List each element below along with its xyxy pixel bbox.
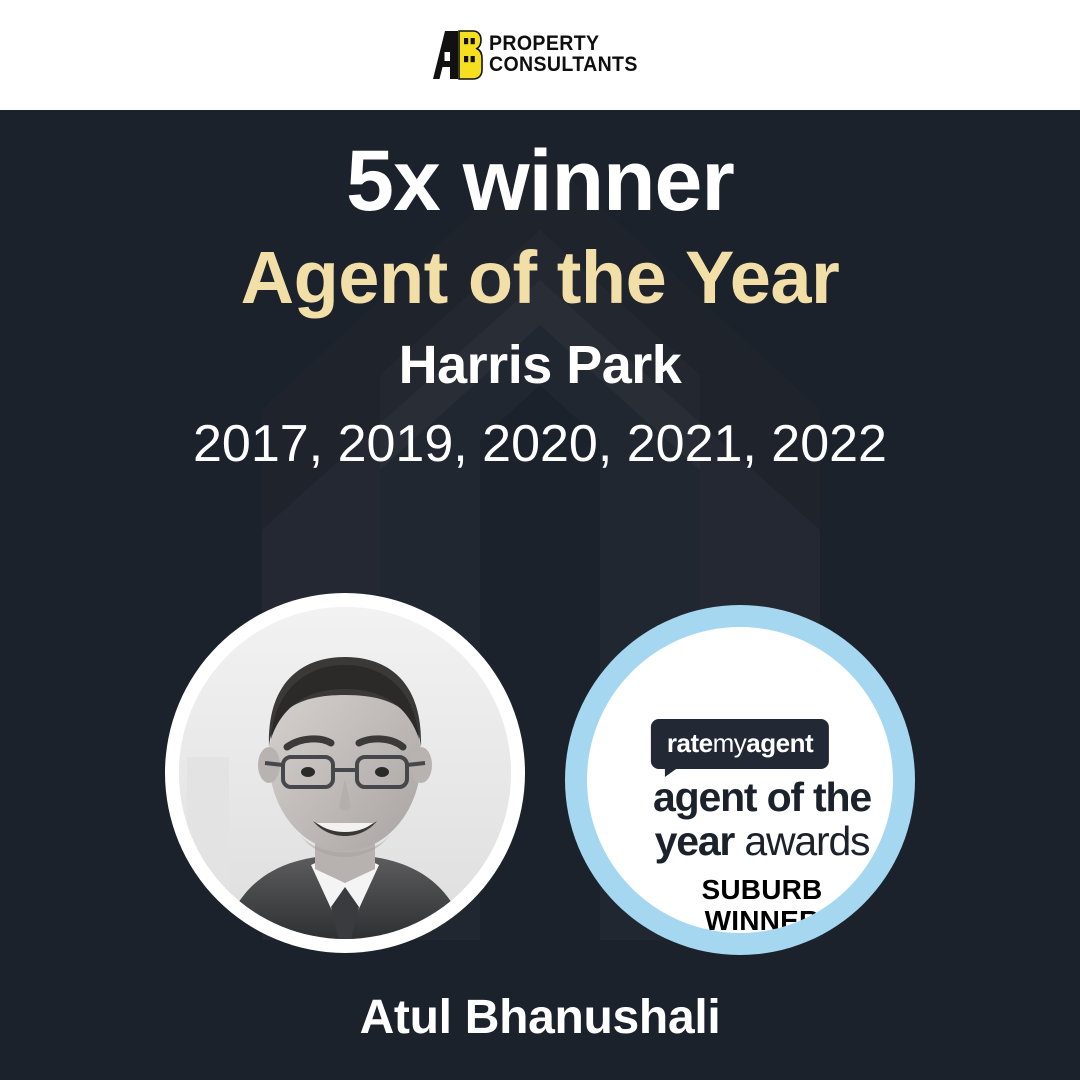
badge-award-name: agent of the year awards (587, 777, 893, 862)
brand-header: PROPERTY CONSULTANTS (0, 0, 1080, 110)
award-announcement-card: PROPERTY CONSULTANTS 5x winner Agent of … (0, 0, 1080, 1080)
poster-body: 5x winner Agent of the Year Harris Park … (0, 110, 1080, 1080)
ratemyagent-award-badge: AGENT OF THE YEAR ratemyagent agent of t… (565, 605, 915, 955)
award-title: Agent of the Year (0, 238, 1080, 318)
ab-monogram-icon (431, 30, 483, 80)
logo-line-1: PROPERTY (489, 34, 638, 55)
rma-rate-text: rate (667, 728, 713, 758)
badge-inner-face: ratemyagent agent of the year awards SUB… (587, 627, 893, 933)
badge-level-line-2: WINNER (587, 905, 893, 933)
logo-line-2: CONSULTANTS (489, 55, 638, 76)
badge-line-2-light: awards (744, 818, 869, 864)
badge-level-line-1: SUBURB (587, 874, 893, 905)
badge-line-2-bold: year (655, 818, 735, 864)
ab-property-consultants-logo: PROPERTY CONSULTANTS (431, 30, 649, 80)
badge-award-level: SUBURB WINNER (587, 874, 893, 933)
headline-win-count: 5x winner (0, 136, 1080, 226)
ratemyagent-logo: ratemyagent (651, 719, 829, 769)
agent-photo-avatar (165, 593, 525, 953)
suburb-name: Harris Park (0, 336, 1080, 395)
logo-wordmark: PROPERTY CONSULTANTS (489, 34, 638, 76)
winning-years: 2017, 2019, 2020, 2021, 2022 (0, 416, 1080, 473)
badge-line-1: agent of the (587, 777, 893, 818)
rma-my-text: my (713, 728, 747, 758)
poster-text-stack: 5x winner Agent of the Year Harris Park … (0, 110, 1080, 473)
agent-photo-image (179, 607, 511, 939)
agent-name: Atul Bhanushali (0, 990, 1080, 1045)
rma-agent-text: agent (746, 728, 813, 758)
